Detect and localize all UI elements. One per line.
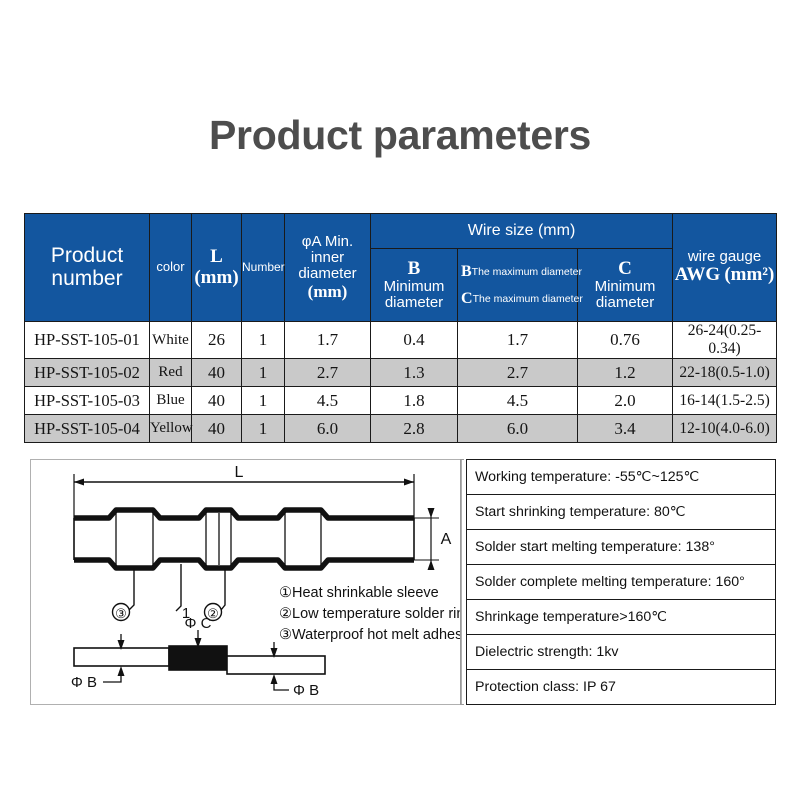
specifications-panel: Working temperature: -55℃~125℃ Start shr… [460, 459, 776, 705]
cell-wire-gauge: 12-10(4.0-6.0) [673, 415, 777, 443]
header-wire-gauge-unit: (mm²) [724, 264, 774, 285]
header-product-number-line1: Product [51, 244, 123, 267]
header-b-max-symbol: B [461, 263, 472, 280]
cell-product-number: HP-SST-105-03 [25, 387, 150, 415]
label-phi-b-left: Φ B [71, 674, 97, 691]
table-row: HP-SST-105-02 Red 40 1 2.7 1.3 2.7 1.2 2… [25, 359, 777, 387]
header-c-max-symbol: C [461, 290, 473, 307]
cell-product-number: HP-SST-105-01 [25, 322, 150, 359]
leader-1 [176, 564, 181, 611]
cell-b-minimum: 0.4 [371, 322, 458, 359]
cell-b-minimum: 1.8 [371, 387, 458, 415]
cell-phi-a: 1.7 [285, 322, 371, 359]
specifications-list: Working temperature: -55℃~125℃ Start shr… [466, 459, 776, 705]
arrow-left-l [74, 479, 84, 486]
header-b-maximum-diameter-line: BThe maximum diameter [458, 261, 577, 282]
lower-panel: L A ③ 1 ② Φ C Φ B Φ B ①Heat shrinkable s… [24, 459, 776, 705]
header-color: color [150, 214, 192, 322]
header-c-line2: Minimum [595, 278, 656, 295]
solder-section [169, 646, 227, 670]
label-dimension-l: L [235, 464, 244, 481]
cell-number: 1 [242, 415, 285, 443]
cell-bc-maximum: 4.5 [458, 387, 578, 415]
header-phi-a-unit: (mm) [308, 282, 348, 301]
wire-right [227, 656, 325, 674]
header-length: L (mm) [192, 214, 242, 322]
cell-wire-gauge: 22-18(0.5-1.0) [673, 359, 777, 387]
cell-length: 40 [192, 415, 242, 443]
cell-bc-maximum: 6.0 [458, 415, 578, 443]
cell-length: 40 [192, 387, 242, 415]
table-row: HP-SST-105-03 Blue 40 1 4.5 1.8 4.5 2.0 … [25, 387, 777, 415]
arrow-up-a [428, 508, 435, 518]
cell-phi-a: 6.0 [285, 415, 371, 443]
page-title: Product parameters [0, 112, 800, 159]
cell-bc-maximum: 1.7 [458, 322, 578, 359]
header-c-max-text: The maximum diameter [473, 293, 583, 305]
header-b-line2: Minimum [384, 278, 445, 295]
table-row: HP-SST-105-01 White 26 1 1.7 0.4 1.7 0.7… [25, 322, 777, 359]
header-c-maximum-diameter-line: CThe maximum diameter [458, 288, 577, 309]
cell-c-minimum: 0.76 [578, 322, 673, 359]
spec-solder-start-melting-temperature: Solder start melting temperature: 138° [467, 530, 775, 565]
label-phi-c: Φ C [185, 615, 212, 632]
header-product-number-line2: number [51, 267, 122, 290]
header-product-number: Product number [25, 214, 150, 322]
cell-number: 1 [242, 387, 285, 415]
wire-left [74, 648, 169, 666]
cell-c-minimum: 2.0 [578, 387, 673, 415]
header-b-max-text: The maximum diameter [472, 266, 582, 278]
header-phi-a-line2: inner [311, 249, 344, 266]
label-callout-3: ③ [115, 606, 127, 621]
header-b-symbol: B [408, 258, 421, 279]
header-wire-size-group: Wire size (mm) [371, 214, 673, 249]
cell-b-minimum: 2.8 [371, 415, 458, 443]
cell-c-minimum: 3.4 [578, 415, 673, 443]
product-diagram-svg: L A ③ 1 ② Φ C Φ B Φ B ①Heat shrinkable s… [31, 460, 461, 704]
spec-working-temperature: Working temperature: -55℃~125℃ [467, 460, 775, 495]
table-row: HP-SST-105-04 Yellow 40 1 6.0 2.8 6.0 3.… [25, 415, 777, 443]
product-parameters-table: Product number color L (mm) Number φA Mi… [24, 213, 777, 443]
spec-dielectric-strength: Dielectric strength: 1kv [467, 635, 775, 670]
spec-shrinkage-temperature: Shrinkage temperature>160℃ [467, 600, 775, 635]
spec-solder-complete-melting-temperature: Solder complete melting temperature: 160… [467, 565, 775, 600]
tube-top-outline [74, 510, 414, 518]
tube-bottom-outline [74, 560, 414, 568]
spec-protection-class: Protection class: IP 67 [467, 670, 775, 704]
header-c-minimum-diameter: C Minimum diameter [578, 249, 673, 322]
cell-wire-gauge: 16-14(1.5-2.5) [673, 387, 777, 415]
cell-color: Red [150, 359, 192, 387]
cell-number: 1 [242, 322, 285, 359]
leader-3 [129, 568, 134, 610]
legend-item-2: ②Low temperature solder ring [279, 606, 461, 622]
header-phi-a-line3: diameter [298, 265, 356, 282]
header-length-unit: (mm) [194, 267, 238, 288]
header-phi-a-inner-diameter: φA Min. inner diameter (mm) [285, 214, 371, 322]
header-b-line3: diameter [385, 294, 443, 311]
header-wire-gauge-awg: AWG [675, 264, 720, 285]
cell-wire-gauge: 26-24(0.25-0.34) [673, 322, 777, 359]
header-number: Number [242, 214, 285, 322]
legend-item-3: ③Waterproof hot melt adhesive [279, 627, 461, 643]
cell-phi-a: 4.5 [285, 387, 371, 415]
cell-product-number: HP-SST-105-04 [25, 415, 150, 443]
header-wire-gauge-line1: wire gauge [688, 248, 761, 265]
product-diagram: L A ③ 1 ② Φ C Φ B Φ B ①Heat shrinkable s… [30, 459, 462, 705]
cell-length: 40 [192, 359, 242, 387]
cell-number: 1 [242, 359, 285, 387]
header-wire-gauge: wire gauge AWG (mm²) [673, 214, 777, 322]
header-length-symbol: L [210, 246, 223, 267]
spec-start-shrinking-temperature: Start shrinking temperature: 80℃ [467, 495, 775, 530]
header-b-minimum-diameter: B Minimum diameter [371, 249, 458, 322]
label-dimension-a: A [441, 531, 452, 548]
cell-color: Yellow [150, 415, 192, 443]
legend-item-1: ①Heat shrinkable sleeve [279, 585, 439, 601]
table-header-row-1: Product number color L (mm) Number φA Mi… [25, 214, 777, 249]
header-c-symbol: C [618, 258, 632, 279]
cell-color: Blue [150, 387, 192, 415]
arrow-right-l [404, 479, 414, 486]
header-phi-a-line1: φA Min. [302, 233, 353, 250]
cell-b-minimum: 1.3 [371, 359, 458, 387]
leader-2 [221, 568, 225, 610]
cell-phi-a: 2.7 [285, 359, 371, 387]
cell-c-minimum: 1.2 [578, 359, 673, 387]
cell-color: White [150, 322, 192, 359]
label-phi-b-right: Φ B [293, 682, 319, 699]
cell-product-number: HP-SST-105-02 [25, 359, 150, 387]
cell-length: 26 [192, 322, 242, 359]
spec-panel-frame [460, 459, 464, 705]
inner-rings [116, 513, 321, 565]
header-bc-maximum-diameter: BThe maximum diameter CThe maximum diame… [458, 249, 578, 322]
cell-bc-maximum: 2.7 [458, 359, 578, 387]
arrow-down-a [428, 560, 435, 570]
header-c-line3: diameter [596, 294, 654, 311]
